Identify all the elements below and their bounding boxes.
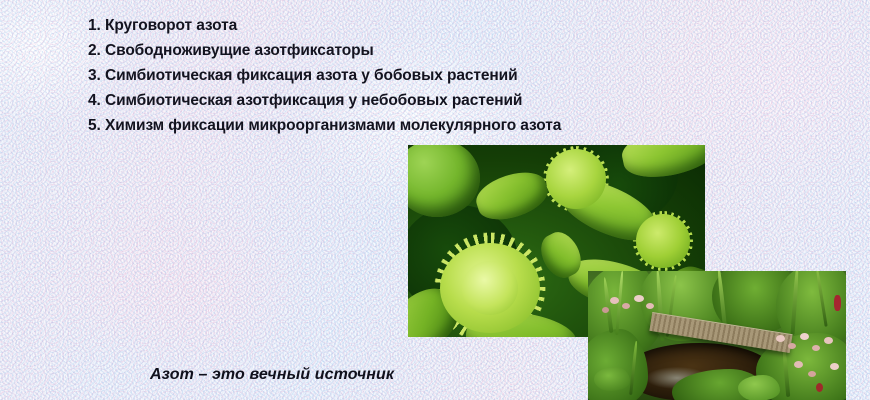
flower (622, 303, 630, 309)
list-item-label: Симбиотическая азотфиксация у небобовых … (105, 92, 522, 109)
flower (776, 335, 785, 342)
flower (646, 303, 654, 309)
list-item-label: Круговорот азота (105, 17, 237, 34)
flower (794, 361, 803, 368)
flower (634, 295, 644, 302)
list-item: 2.Свободноживущие азотфиксаторы (88, 38, 788, 63)
list-item: 5.Химизм фиксации микроорганизмами молек… (88, 113, 788, 138)
list-item: 1.Круговорот азота (88, 13, 788, 38)
flower (788, 343, 796, 349)
list-item-number: 2. (88, 38, 105, 63)
flower-red (834, 295, 841, 311)
flower (800, 333, 809, 340)
flower (830, 363, 839, 370)
foreground-leaf (738, 375, 780, 400)
flower (808, 371, 816, 377)
list-item-number: 3. (88, 63, 105, 88)
flower (610, 297, 619, 304)
flower (824, 337, 833, 344)
slide-canvas: 1.Круговорот азота 2.Свободноживущие азо… (0, 0, 870, 400)
agenda-list: 1.Круговорот азота 2.Свободноживущие азо… (88, 13, 788, 138)
list-item-number: 4. (88, 88, 105, 113)
slide-caption: Азот – это вечный источник (150, 366, 394, 384)
flower-red (816, 383, 823, 392)
list-item-label: Свободноживущие азотфиксаторы (105, 42, 374, 59)
list-item: 3.Симбиотическая фиксация азота у бобовы… (88, 63, 788, 88)
list-item-number: 5. (88, 113, 105, 138)
list-item-label: Химизм фиксации микроорганизмами молекул… (105, 117, 561, 134)
list-item-number: 1. (88, 13, 105, 38)
foreground-leaf (594, 367, 630, 391)
list-item: 4.Симбиотическая азотфиксация у небобовы… (88, 88, 788, 113)
flower (812, 345, 820, 351)
flower (602, 307, 609, 313)
pond-photo (588, 271, 846, 400)
list-item-label: Симбиотическая фиксация азота у бобовых … (105, 67, 518, 84)
